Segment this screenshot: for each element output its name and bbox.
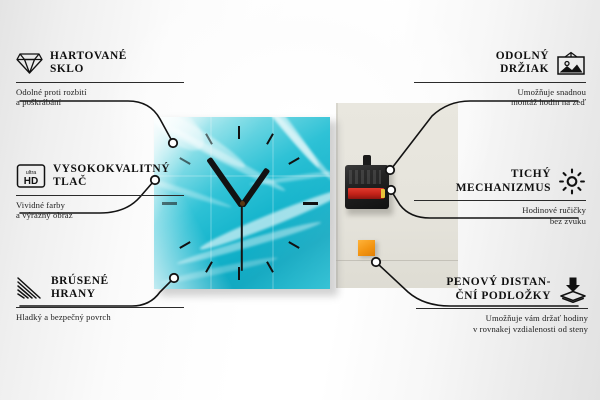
feature-title: BRÚSENÉ HRANY bbox=[51, 275, 109, 302]
feature-title-line: HARTOVANÉ bbox=[50, 50, 127, 63]
feature-title-line: HRANY bbox=[51, 288, 109, 301]
feature-desc-line: bez zvuku bbox=[414, 216, 586, 227]
feature-silent-mechanism: TICHÝ MECHANIZMUS Hodinové ručičky bez z… bbox=[414, 168, 586, 226]
feature-desc-line: a poškrábání bbox=[16, 97, 184, 108]
gear-icon bbox=[558, 168, 586, 195]
feature-divider bbox=[16, 307, 184, 308]
press-down-layers-icon bbox=[558, 276, 588, 303]
ground-edges-icon bbox=[16, 276, 44, 300]
feature-head: ultra HD VYSOKOKVALITNÝ TLAČ bbox=[16, 163, 184, 190]
diamond-icon bbox=[16, 51, 43, 75]
clock-tick bbox=[238, 267, 240, 280]
feature-desc: Hladký a bezpečný povrch bbox=[16, 312, 184, 323]
feature-desc: Umožňuje vám držať hodiny v rovnakej vzd… bbox=[416, 313, 588, 334]
second-hand bbox=[241, 205, 243, 271]
feature-desc-line: Umožňuje vám držať hodiny bbox=[416, 313, 588, 324]
feature-durable-holder: ODOLNÝ DRŽIAK Umožňuje snadnou montáž ho… bbox=[414, 50, 586, 108]
feature-desc: Odolné proti rozbití a poškrábání bbox=[16, 87, 184, 108]
feature-desc-line: Odolné proti rozbití bbox=[16, 87, 184, 98]
svg-text:HD: HD bbox=[24, 176, 38, 187]
feature-ground-edges: BRÚSENÉ HRANY Hladký a bezpečný povrch bbox=[16, 275, 184, 322]
battery bbox=[348, 188, 384, 199]
clock-mechanism bbox=[345, 165, 389, 209]
feature-divider bbox=[414, 200, 586, 201]
feature-desc: Umožňuje snadnou montáž hodin na zeď bbox=[414, 87, 586, 108]
mechanism-label bbox=[349, 170, 381, 184]
feature-desc-line: v rovnakej vzdialenosti od steny bbox=[416, 324, 588, 335]
feature-title-line: TICHÝ bbox=[456, 168, 551, 181]
feature-desc: Vividné farby a výrazný obraz bbox=[16, 200, 184, 221]
feature-desc-line: a výrazný obraz bbox=[16, 210, 184, 221]
feature-head: ODOLNÝ DRŽIAK bbox=[414, 50, 586, 77]
feature-title: HARTOVANÉ SKLO bbox=[50, 50, 127, 77]
wall-floor-line bbox=[336, 260, 458, 261]
feature-title: TICHÝ MECHANIZMUS bbox=[456, 168, 551, 195]
feature-title-line: MECHANIZMUS bbox=[456, 182, 551, 195]
clock-tick bbox=[303, 202, 318, 205]
feature-head: BRÚSENÉ HRANY bbox=[16, 275, 184, 302]
product-photo bbox=[136, 103, 458, 288]
feature-desc-line: montáž hodin na zeď bbox=[414, 97, 586, 108]
clock-tick bbox=[238, 126, 240, 139]
feature-title: VYSOKOKVALITNÝ TLAČ bbox=[53, 163, 170, 190]
feature-desc: Hodinové ručičky bez zvuku bbox=[414, 205, 586, 226]
feature-tempered-glass: HARTOVANÉ SKLO Odolné proti rozbití a po… bbox=[16, 50, 184, 108]
feature-title-line: VYSOKOKVALITNÝ bbox=[53, 163, 170, 176]
feature-desc-line: Umožňuje snadnou bbox=[414, 87, 586, 98]
clock-hands-hub bbox=[240, 201, 245, 206]
feature-desc-line: Hladký a bezpečný povrch bbox=[16, 312, 184, 323]
feature-divider bbox=[414, 82, 586, 83]
feature-title-line: ODOLNÝ bbox=[496, 50, 549, 63]
feature-title: ODOLNÝ DRŽIAK bbox=[496, 50, 549, 77]
infographic-canvas: HARTOVANÉ SKLO Odolné proti rozbití a po… bbox=[0, 0, 600, 400]
ultra-hd-icon: ultra HD bbox=[16, 163, 46, 189]
feature-desc-line: Vividné farby bbox=[16, 200, 184, 211]
feature-title-line: TLAČ bbox=[53, 176, 170, 189]
feature-head: TICHÝ MECHANIZMUS bbox=[414, 168, 586, 195]
picture-frame-icon bbox=[556, 51, 586, 76]
feature-title-line: SKLO bbox=[50, 63, 127, 76]
feature-high-quality-print: ultra HD VYSOKOKVALITNÝ TLAČ Vividné far… bbox=[16, 163, 184, 221]
feature-head: PENOVÝ DISTAN- ČNÍ PODLOŽKY bbox=[416, 276, 588, 303]
feature-foam-spacers: PENOVÝ DISTAN- ČNÍ PODLOŽKY Umožňuje vám… bbox=[416, 276, 588, 334]
feature-title: PENOVÝ DISTAN- ČNÍ PODLOŽKY bbox=[446, 276, 551, 303]
feature-divider bbox=[416, 308, 588, 309]
feature-divider bbox=[16, 82, 184, 83]
feature-desc-line: Hodinové ručičky bbox=[414, 205, 586, 216]
feature-title-line: PENOVÝ DISTAN- bbox=[446, 276, 551, 289]
feature-title-line: ČNÍ PODLOŽKY bbox=[446, 290, 551, 303]
battery-terminal bbox=[381, 189, 385, 198]
feature-head: HARTOVANÉ SKLO bbox=[16, 50, 184, 77]
feature-title-line: BRÚSENÉ bbox=[51, 275, 109, 288]
feature-divider bbox=[16, 195, 184, 196]
foam-spacer-pad bbox=[358, 240, 375, 256]
feature-title-line: DRŽIAK bbox=[496, 63, 549, 76]
